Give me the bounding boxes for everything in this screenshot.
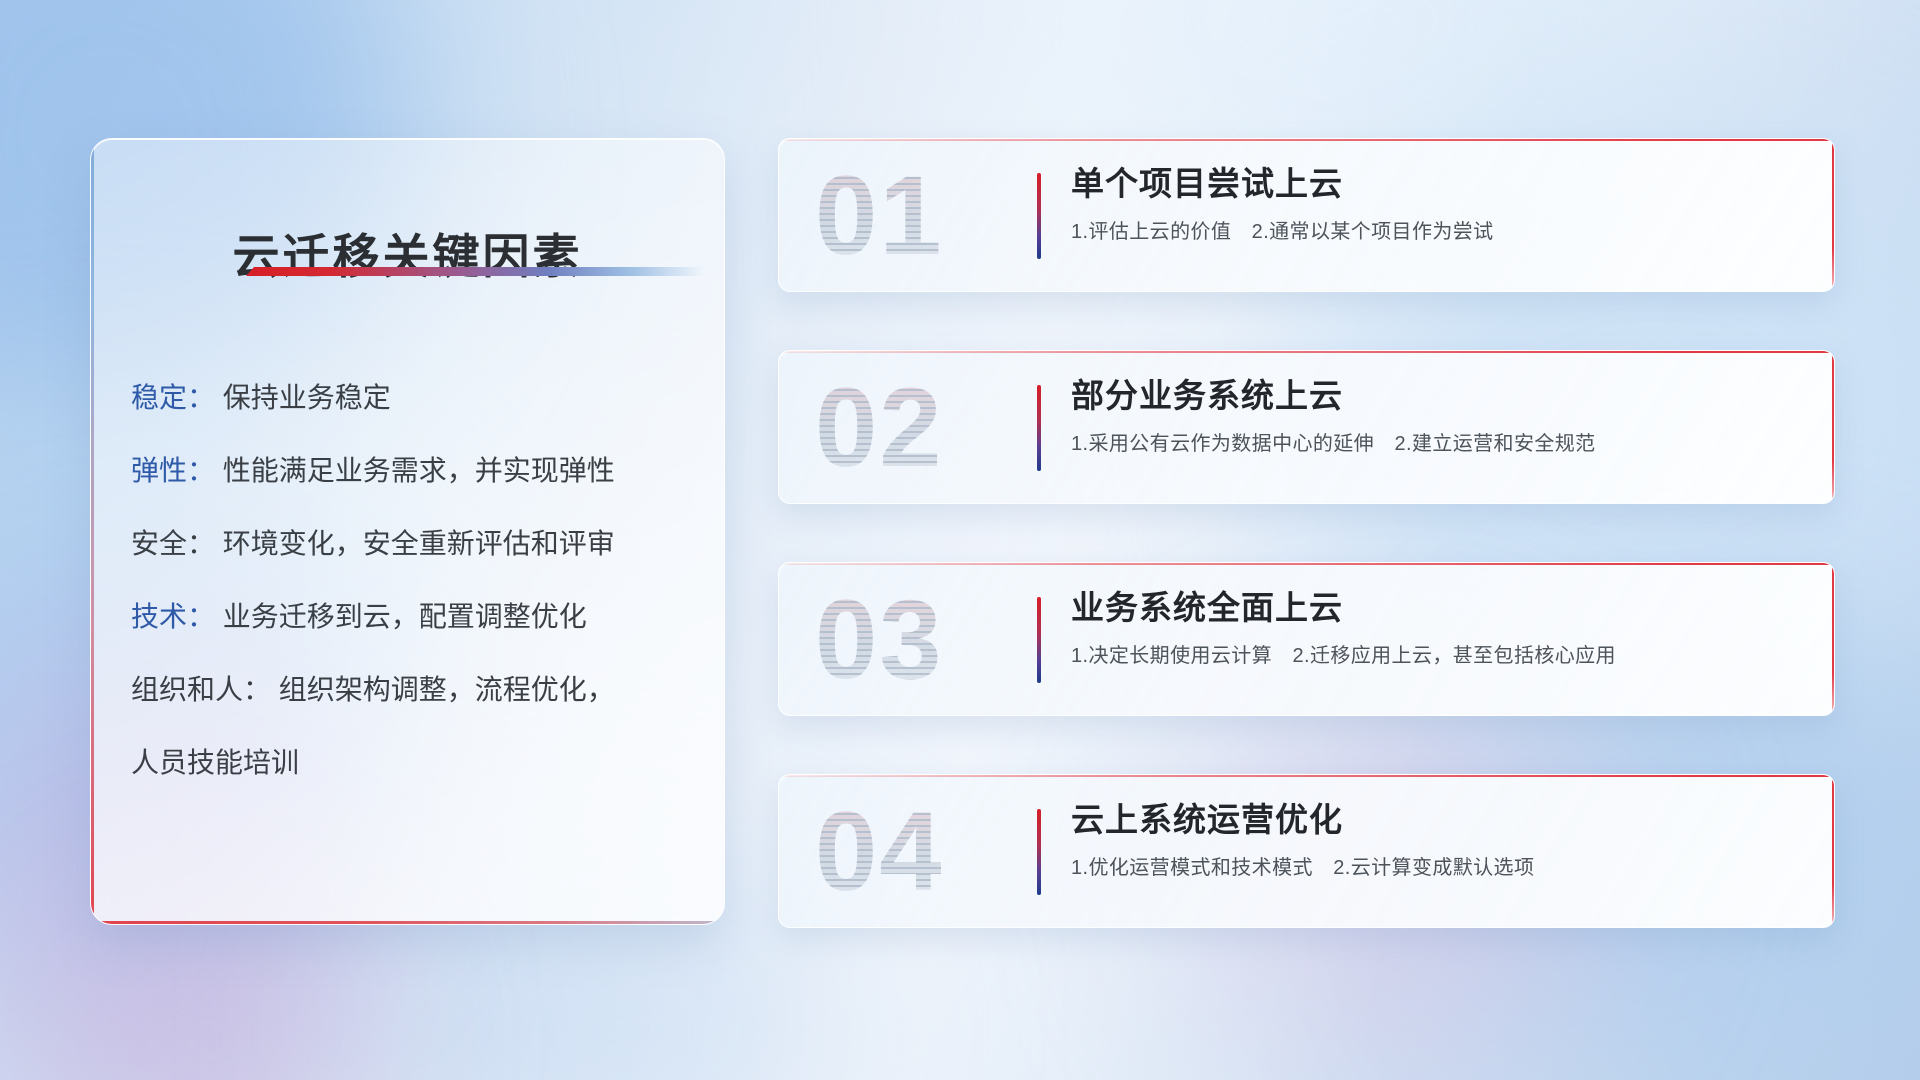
step-card[interactable]: 03业务系统全面上云1.决定长期使用云计算 2.迁移应用上云，甚至包括核心应用	[778, 562, 1835, 716]
factor-item: 人员技能培训	[131, 749, 698, 777]
factor-list: 稳定： 保持业务稳定弹性： 性能满足业务需求，并实现弹性安全： 环境变化，安全重…	[131, 384, 698, 807]
step-title: 业务系统全面上云	[1071, 587, 1794, 628]
factor-item: 稳定： 保持业务稳定	[131, 384, 698, 412]
step-accent-bar	[1037, 597, 1041, 683]
card-right-edge-accent	[1832, 775, 1834, 927]
step-number-watermark: 03	[815, 577, 1005, 702]
panel-bottom-edge-accent	[91, 921, 724, 924]
factor-description: 业务迁移到云，配置调整优化	[223, 601, 587, 632]
card-right-edge-accent	[1832, 563, 1834, 715]
step-number-text: 03	[815, 577, 1005, 702]
step-card[interactable]: 04云上系统运营优化1.优化运营模式和技术模式 2.云计算变成默认选项	[778, 774, 1835, 928]
title-underline-accent	[246, 267, 704, 276]
card-right-edge-accent	[1832, 139, 1834, 291]
step-card[interactable]: 02部分业务系统上云1.采用公有云作为数据中心的延伸 2.建立运营和安全规范	[778, 350, 1835, 504]
factor-item: 安全： 环境变化，安全重新评估和评审	[131, 530, 698, 558]
step-description: 1.决定长期使用云计算 2.迁移应用上云，甚至包括核心应用	[1071, 643, 1794, 669]
card-top-edge-accent	[779, 563, 1834, 565]
factor-label: 安全：	[131, 528, 215, 559]
step-number-watermark: 04	[815, 789, 1005, 914]
key-factors-panel: 云迁移关键因素 稳定： 保持业务稳定弹性： 性能满足业务需求，并实现弹性安全： …	[90, 138, 725, 925]
factor-description: 人员技能培训	[131, 747, 299, 778]
page-title: 云迁移关键因素	[91, 218, 724, 287]
factor-description: 性能满足业务需求，并实现弹性	[223, 455, 615, 486]
step-accent-bar	[1037, 385, 1041, 471]
factor-description: 保持业务稳定	[223, 382, 391, 413]
factor-label: 技术：	[131, 601, 215, 632]
factor-item: 弹性： 性能满足业务需求，并实现弹性	[131, 457, 698, 485]
step-text-block: 部分业务系统上云1.采用公有云作为数据中心的延伸 2.建立运营和安全规范	[1071, 375, 1794, 457]
factor-label: 稳定：	[131, 382, 215, 413]
step-text-block: 单个项目尝试上云1.评估上云的价值 2.通常以某个项目作为尝试	[1071, 163, 1794, 245]
factor-item: 组织和人： 组织架构调整，流程优化，	[131, 676, 698, 704]
step-description: 1.采用公有云作为数据中心的延伸 2.建立运营和安全规范	[1071, 431, 1794, 457]
card-right-edge-accent	[1832, 351, 1834, 503]
step-text-block: 业务系统全面上云1.决定长期使用云计算 2.迁移应用上云，甚至包括核心应用	[1071, 587, 1794, 669]
factor-label: 组织和人：	[131, 674, 271, 705]
step-title: 部分业务系统上云	[1071, 375, 1794, 416]
step-card[interactable]: 01单个项目尝试上云1.评估上云的价值 2.通常以某个项目作为尝试	[778, 138, 1835, 292]
step-text-block: 云上系统运营优化1.优化运营模式和技术模式 2.云计算变成默认选项	[1071, 799, 1794, 881]
step-number-watermark: 02	[815, 365, 1005, 490]
step-title: 云上系统运营优化	[1071, 799, 1794, 840]
step-accent-bar	[1037, 809, 1041, 895]
factor-description: 组织架构调整，流程优化，	[279, 674, 615, 705]
step-description: 1.优化运营模式和技术模式 2.云计算变成默认选项	[1071, 855, 1794, 881]
card-top-edge-accent	[779, 139, 1834, 141]
migration-steps-list: 01单个项目尝试上云1.评估上云的价值 2.通常以某个项目作为尝试02部分业务系…	[778, 138, 1835, 986]
factor-label: 弹性：	[131, 455, 215, 486]
step-number-text: 04	[815, 789, 1005, 914]
step-number-text: 01	[815, 153, 1005, 278]
card-top-edge-accent	[779, 775, 1834, 777]
slide-stage: 云迁移关键因素 稳定： 保持业务稳定弹性： 性能满足业务需求，并实现弹性安全： …	[0, 0, 1920, 1080]
factor-item: 技术： 业务迁移到云，配置调整优化	[131, 603, 698, 631]
card-top-edge-accent	[779, 351, 1834, 353]
step-description: 1.评估上云的价值 2.通常以某个项目作为尝试	[1071, 219, 1794, 245]
step-title: 单个项目尝试上云	[1071, 163, 1794, 204]
step-number-text: 02	[815, 365, 1005, 490]
step-accent-bar	[1037, 173, 1041, 259]
factor-description: 环境变化，安全重新评估和评审	[223, 528, 615, 559]
step-number-watermark: 01	[815, 153, 1005, 278]
